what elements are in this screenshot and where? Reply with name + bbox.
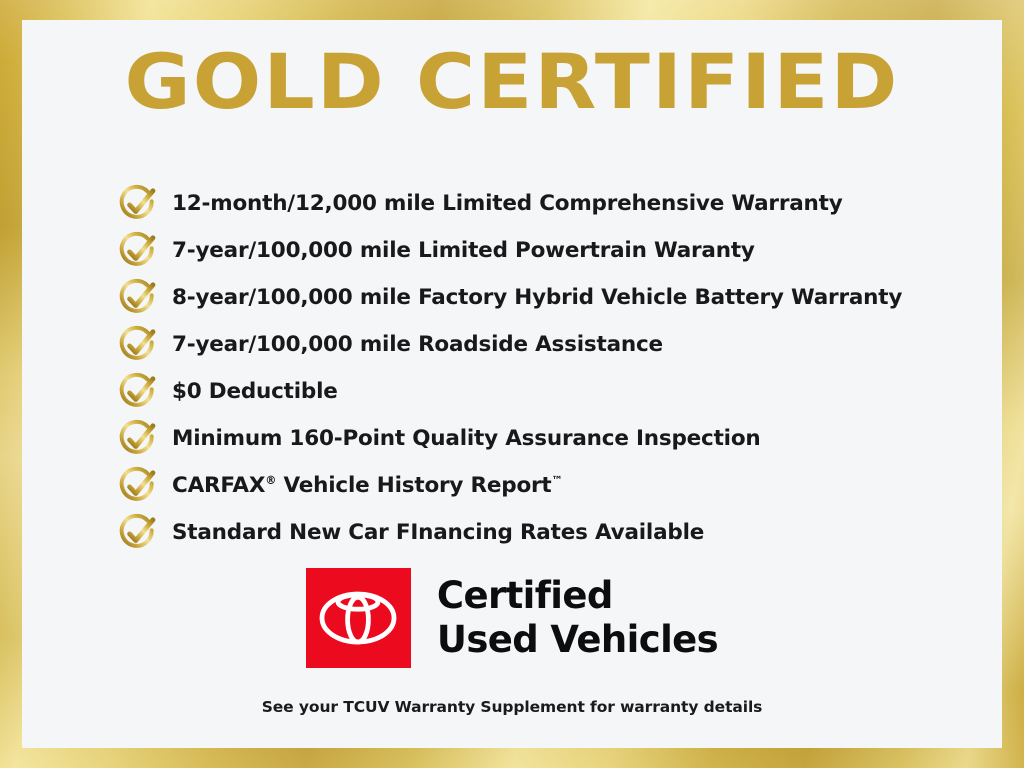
list-item: Standard New Car FInancing Rates Availab…	[116, 509, 972, 556]
toyota-emblem-icon	[318, 589, 398, 647]
benefit-label: 8-year/100,000 mile Factory Hybrid Vehic…	[172, 287, 902, 309]
wordmark-line-certified: Certified	[437, 574, 718, 618]
certificate-card: GOLD CERTIFIED	[22, 20, 1002, 748]
gold-check-circle-icon	[116, 417, 160, 461]
gold-check-circle-icon	[116, 511, 160, 555]
wordmark-line-used-vehicles: Used Vehicles	[437, 618, 718, 662]
gold-check-circle-icon	[116, 229, 160, 273]
gold-check-circle-icon	[116, 323, 160, 367]
gold-check-circle-icon	[116, 276, 160, 320]
carfax-wordmark: CARFAX	[172, 473, 265, 498]
list-item: 12-month/12,000 mile Limited Comprehensi…	[116, 180, 972, 227]
list-item: Minimum 160-Point Quality Assurance Insp…	[116, 415, 972, 462]
page-title: GOLD CERTIFIED	[22, 44, 1002, 120]
gold-check-circle-icon	[116, 370, 160, 414]
benefit-label: Minimum 160-Point Quality Assurance Insp…	[172, 428, 761, 450]
gold-check-circle-icon	[116, 464, 160, 508]
toyota-certified-used-vehicles-lockup: Certified Used Vehicles	[22, 568, 1002, 668]
list-item: 7-year/100,000 mile Limited Powertrain W…	[116, 227, 972, 274]
benefits-list: 12-month/12,000 mile Limited Comprehensi…	[116, 180, 972, 556]
warranty-disclaimer: See your TCUV Warranty Supplement for wa…	[22, 698, 1002, 716]
list-item: CARFAX® Vehicle History Report™	[116, 462, 972, 509]
gold-certified-certificate: GOLD CERTIFIED	[0, 0, 1024, 768]
toyota-logo-tile	[306, 568, 411, 668]
benefit-label: $0 Deductible	[172, 381, 338, 403]
benefit-label: Standard New Car FInancing Rates Availab…	[172, 522, 704, 544]
benefit-label-carfax: CARFAX® Vehicle History Report™	[172, 475, 562, 497]
registered-mark: ®	[265, 474, 276, 487]
benefit-label: 7-year/100,000 mile Limited Powertrain W…	[172, 240, 755, 262]
list-item: $0 Deductible	[116, 368, 972, 415]
benefit-label: 12-month/12,000 mile Limited Comprehensi…	[172, 193, 843, 215]
trademark-mark: ™	[552, 474, 563, 487]
gold-check-circle-icon	[116, 182, 160, 226]
carfax-report-text: Vehicle History Report	[284, 473, 552, 498]
toyota-wordmark: Certified Used Vehicles	[437, 574, 718, 661]
list-item: 8-year/100,000 mile Factory Hybrid Vehic…	[116, 274, 972, 321]
list-item: 7-year/100,000 mile Roadside Assistance	[116, 321, 972, 368]
benefit-label: 7-year/100,000 mile Roadside Assistance	[172, 334, 663, 356]
